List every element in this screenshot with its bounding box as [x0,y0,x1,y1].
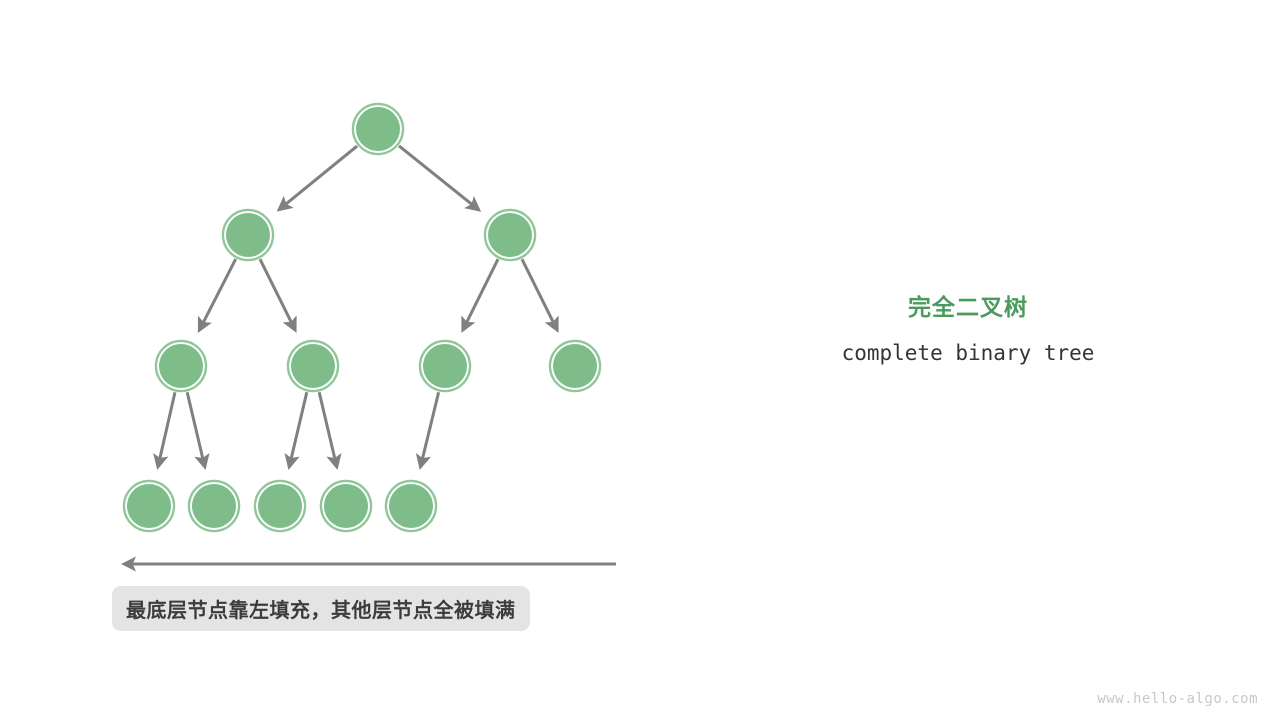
watermark: www.hello-algo.com [1097,691,1258,707]
figure-label-block: 完全二叉树 complete binary tree [768,292,1168,366]
tree-node-disc [258,484,302,528]
tree-node[interactable] [386,481,436,531]
tree-node-disc [356,107,400,151]
tree-node[interactable] [321,481,371,531]
tree-node[interactable] [124,481,174,531]
tree-edge [420,392,438,467]
tree-node-disc [226,213,270,257]
tree-node-disc [127,484,171,528]
caption-box: 最底层节点靠左填充，其他层节点全被填满 [112,586,530,631]
tree-edge [199,259,236,330]
tree-node[interactable] [485,210,535,260]
tree-node[interactable] [550,341,600,391]
tree-edge [522,259,557,330]
tree-node[interactable] [288,341,338,391]
tree-node-disc [192,484,236,528]
tree-node-disc [488,213,532,257]
tree-nodes-group [124,104,600,531]
tree-node[interactable] [156,341,206,391]
tree-edge [319,392,337,467]
tree-node[interactable] [223,210,273,260]
figure-title-en: complete binary tree [768,340,1168,366]
tree-edge [463,259,498,330]
tree-node-disc [324,484,368,528]
tree-edge [279,146,357,210]
tree-node-disc [389,484,433,528]
tree-node[interactable] [189,481,239,531]
tree-node-disc [291,344,335,388]
tree-edge [260,259,295,330]
figure-title-cn: 完全二叉树 [768,292,1168,322]
caption-text: 最底层节点靠左填充，其他层节点全被填满 [126,594,516,623]
tree-node-disc [423,344,467,388]
tree-node[interactable] [353,104,403,154]
tree-edge [158,392,175,467]
tree-edges-group [158,146,557,467]
tree-node[interactable] [255,481,305,531]
tree-edge [399,146,479,210]
tree-node-disc [553,344,597,388]
tree-node-disc [159,344,203,388]
tree-edge [187,392,205,467]
tree-edge [289,392,307,467]
tree-node[interactable] [420,341,470,391]
